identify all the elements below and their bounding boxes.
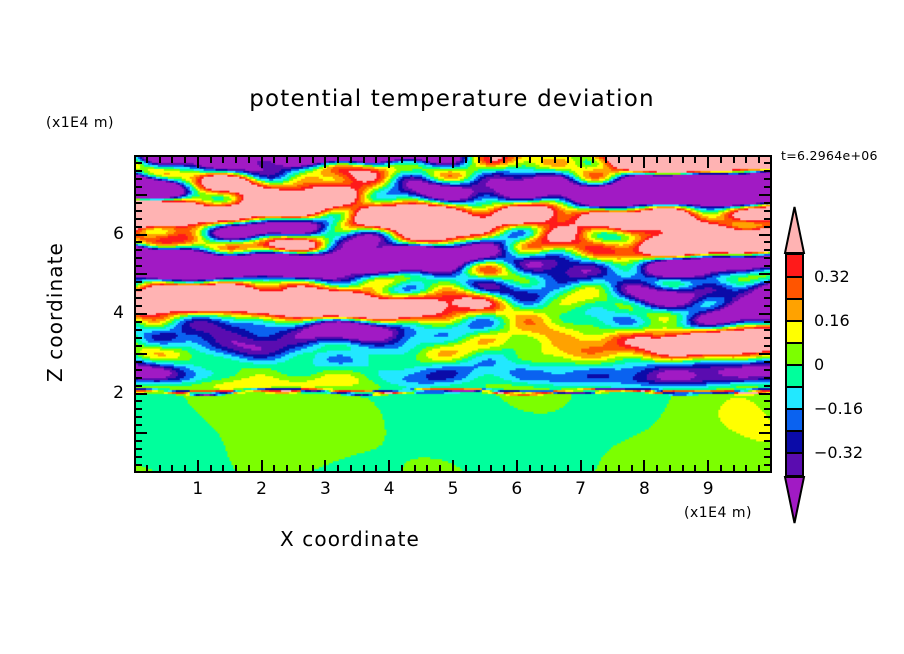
x-tick-label: 3 [305, 479, 345, 499]
y-tick-left [136, 400, 142, 402]
y-tick-left [136, 178, 142, 180]
x-tick-top [656, 157, 658, 163]
y-tick-right [764, 329, 770, 331]
colorbar-band [787, 387, 802, 409]
colorbar-band [787, 343, 802, 365]
y-tick-right [759, 194, 770, 196]
plot-area [134, 155, 772, 473]
y-tick-left [136, 432, 147, 434]
x-tick-top [720, 157, 722, 163]
y-tick-right [759, 432, 770, 434]
y-tick-left [136, 424, 142, 426]
x-tick-top [580, 157, 582, 168]
colorbar-band-divider [787, 298, 802, 300]
x-tick-top [516, 157, 518, 168]
y-tick-left [136, 337, 142, 339]
colorbar-under-arrow-icon [782, 475, 807, 525]
y-tick-label: 2 [94, 383, 124, 403]
x-tick-bottom [745, 465, 747, 471]
x-tick-top [401, 157, 403, 163]
x-tick-label: 6 [497, 479, 537, 499]
x-tick-top [375, 157, 377, 163]
x-tick-top [758, 157, 760, 163]
y-tick-left [136, 297, 142, 299]
y-tick-left [136, 281, 142, 283]
y-tick-right [764, 202, 770, 204]
x-tick-top [210, 157, 212, 163]
y-axis-units-label: (x1E4 m) [46, 115, 114, 131]
x-tick-bottom [694, 465, 696, 471]
x-tick-top [184, 157, 186, 163]
x-tick-bottom [273, 465, 275, 471]
y-tick-right [764, 305, 770, 307]
y-tick-right [764, 408, 770, 410]
y-tick-left [136, 218, 142, 220]
x-tick-bottom [184, 465, 186, 471]
x-tick-top [414, 157, 416, 163]
colorbar-band [787, 321, 802, 343]
x-tick-top [745, 157, 747, 163]
x-tick-top [490, 157, 492, 163]
x-tick-top [261, 157, 263, 168]
x-tick-top [631, 157, 633, 163]
y-tick-right [764, 170, 770, 172]
x-tick-bottom [286, 465, 288, 471]
y-tick-left [136, 186, 142, 188]
x-tick-bottom [159, 465, 161, 471]
y-tick-right [764, 241, 770, 243]
y-tick-left [136, 241, 142, 243]
y-tick-right [764, 345, 770, 347]
x-tick-bottom [146, 465, 148, 471]
x-tick-top [248, 157, 250, 163]
x-tick-bottom [439, 465, 441, 471]
y-tick-right [764, 297, 770, 299]
x-tick-bottom [235, 465, 237, 471]
colorbar-band [787, 431, 802, 453]
x-tick-top [426, 157, 428, 163]
y-tick-right [764, 218, 770, 220]
y-tick-right [764, 178, 770, 180]
y-tick-left [136, 416, 142, 418]
colorbar-tick-label: 0 [814, 355, 824, 374]
y-tick-right [764, 337, 770, 339]
colorbar-band-divider [787, 276, 802, 278]
y-tick-right [764, 424, 770, 426]
colorbar-band-divider [787, 342, 802, 344]
x-tick-bottom [733, 465, 735, 471]
colorbar-tick-label: −0.16 [814, 399, 863, 418]
y-tick-right [759, 234, 770, 236]
x-tick-bottom [426, 465, 428, 471]
y-tick-right [764, 289, 770, 291]
x-tick-bottom [222, 465, 224, 471]
y-tick-left [136, 202, 142, 204]
y-tick-left [136, 273, 147, 275]
y-tick-right [764, 448, 770, 450]
x-tick-top [171, 157, 173, 163]
colorbar-bands [785, 253, 804, 477]
x-axis-title: X coordinate [0, 527, 700, 551]
x-tick-bottom [631, 465, 633, 471]
x-tick-top [197, 157, 199, 168]
y-tick-right [764, 249, 770, 251]
x-tick-label: 1 [178, 479, 218, 499]
y-tick-right [759, 313, 770, 315]
y-tick-right [764, 162, 770, 164]
x-tick-top [337, 157, 339, 163]
y-tick-left [136, 393, 147, 395]
x-tick-top [529, 157, 531, 163]
colorbar-band [787, 365, 802, 387]
y-tick-right [764, 369, 770, 371]
x-tick-bottom [363, 465, 365, 471]
x-tick-bottom [580, 460, 582, 471]
y-tick-right [764, 377, 770, 379]
x-tick-top [707, 157, 709, 168]
x-tick-top [286, 157, 288, 163]
x-tick-top [159, 157, 161, 163]
y-tick-right [764, 400, 770, 402]
x-tick-top [554, 157, 556, 163]
y-tick-right [764, 281, 770, 283]
x-tick-top [682, 157, 684, 163]
y-axis-title: Z coordinate [43, 212, 67, 412]
x-tick-top [643, 157, 645, 168]
x-tick-bottom [337, 465, 339, 471]
time-stamp-annotation: t=6.2964e+06 [781, 148, 878, 163]
y-tick-left [136, 456, 142, 458]
y-tick-left [136, 329, 142, 331]
x-tick-bottom [388, 460, 390, 471]
x-tick-top [146, 157, 148, 163]
x-tick-bottom [503, 465, 505, 471]
x-tick-bottom [529, 465, 531, 471]
y-tick-right [759, 393, 770, 395]
y-tick-left [136, 448, 142, 450]
x-tick-top [350, 157, 352, 163]
y-tick-right [764, 321, 770, 323]
contour-field [136, 157, 770, 471]
x-tick-bottom [669, 465, 671, 471]
colorbar-band-divider [787, 452, 802, 454]
colorbar-band-divider [787, 320, 802, 322]
colorbar-band [787, 299, 802, 321]
x-tick-top [452, 157, 454, 168]
x-tick-top [567, 157, 569, 163]
y-tick-left [136, 361, 142, 363]
colorbar-band-divider [787, 364, 802, 366]
x-tick-bottom [452, 460, 454, 471]
x-tick-top [465, 157, 467, 163]
colorbar-band [787, 453, 802, 475]
x-tick-bottom [465, 465, 467, 471]
y-tick-left [136, 162, 142, 164]
x-tick-bottom [554, 465, 556, 471]
colorbar-band [787, 277, 802, 299]
x-tick-label: 4 [369, 479, 409, 499]
x-tick-top [733, 157, 735, 163]
colorbar-tick-label: 0.16 [814, 311, 850, 330]
x-tick-bottom [720, 465, 722, 471]
colorbar-band-divider [787, 408, 802, 410]
x-tick-top [363, 157, 365, 163]
x-tick-bottom [707, 460, 709, 471]
x-tick-bottom [643, 460, 645, 471]
y-tick-left [136, 226, 142, 228]
contour-plot-figure: potential temperature deviation (x1E4 m)… [0, 0, 904, 654]
x-tick-bottom [401, 465, 403, 471]
x-tick-top [694, 157, 696, 163]
x-tick-top [669, 157, 671, 163]
y-tick-left [136, 249, 142, 251]
x-tick-bottom [758, 465, 760, 471]
colorbar [782, 205, 806, 525]
colorbar-over-arrow-icon [782, 205, 807, 255]
x-tick-bottom [592, 465, 594, 471]
x-tick-top [503, 157, 505, 163]
x-axis-units-label: (x1E4 m) [684, 505, 752, 521]
y-tick-left [136, 464, 142, 466]
y-tick-right [764, 440, 770, 442]
x-tick-label: 8 [624, 479, 664, 499]
x-tick-top [592, 157, 594, 163]
y-tick-right [764, 385, 770, 387]
x-tick-label: 5 [433, 479, 473, 499]
x-tick-top [541, 157, 543, 163]
y-tick-left [136, 210, 142, 212]
y-tick-left [136, 369, 142, 371]
y-tick-right [764, 257, 770, 259]
x-tick-bottom [605, 465, 607, 471]
colorbar-tick-label: 0.32 [814, 267, 850, 286]
x-tick-bottom [210, 465, 212, 471]
y-tick-right [764, 361, 770, 363]
x-tick-top [605, 157, 607, 163]
x-tick-top [235, 157, 237, 163]
x-tick-bottom [261, 460, 263, 471]
x-tick-bottom [541, 465, 543, 471]
x-tick-bottom [171, 465, 173, 471]
x-tick-bottom [567, 465, 569, 471]
colorbar-band-divider [787, 430, 802, 432]
y-tick-left [136, 170, 142, 172]
x-tick-bottom [197, 460, 199, 471]
y-tick-left [136, 257, 142, 259]
y-tick-left [136, 377, 142, 379]
y-tick-left [136, 385, 142, 387]
y-tick-right [764, 210, 770, 212]
page-title: potential temperature deviation [0, 86, 904, 112]
x-tick-bottom [350, 465, 352, 471]
y-tick-right [764, 456, 770, 458]
y-tick-right [764, 265, 770, 267]
colorbar-band-divider [787, 386, 802, 388]
x-tick-bottom [375, 465, 377, 471]
y-tick-left [136, 321, 142, 323]
x-tick-bottom [299, 465, 301, 471]
y-tick-right [759, 273, 770, 275]
x-tick-bottom [490, 465, 492, 471]
y-tick-left [136, 345, 142, 347]
y-tick-left [136, 194, 147, 196]
x-tick-bottom [248, 465, 250, 471]
x-tick-bottom [618, 465, 620, 471]
x-tick-bottom [324, 460, 326, 471]
x-tick-top [388, 157, 390, 168]
y-tick-left [136, 313, 147, 315]
y-tick-left [136, 353, 147, 355]
x-tick-top [324, 157, 326, 168]
x-tick-bottom [414, 465, 416, 471]
x-tick-top [273, 157, 275, 163]
x-tick-bottom [516, 460, 518, 471]
y-tick-right [759, 353, 770, 355]
x-tick-top [222, 157, 224, 163]
x-tick-label: 9 [688, 479, 728, 499]
x-tick-bottom [478, 465, 480, 471]
y-tick-left [136, 305, 142, 307]
y-tick-left [136, 289, 142, 291]
y-tick-right [764, 464, 770, 466]
x-tick-top [618, 157, 620, 163]
y-tick-right [764, 186, 770, 188]
x-tick-label: 7 [561, 479, 601, 499]
y-tick-right [764, 416, 770, 418]
x-tick-bottom [656, 465, 658, 471]
y-tick-right [764, 226, 770, 228]
colorbar-band [787, 255, 802, 277]
x-tick-top [312, 157, 314, 163]
y-tick-left [136, 440, 142, 442]
y-tick-left [136, 234, 147, 236]
colorbar-band [787, 409, 802, 431]
x-tick-top [478, 157, 480, 163]
y-tick-label: 6 [94, 224, 124, 244]
x-tick-bottom [312, 465, 314, 471]
colorbar-tick-label: −0.32 [814, 443, 863, 462]
x-tick-label: 2 [242, 479, 282, 499]
x-tick-top [439, 157, 441, 163]
x-tick-top [299, 157, 301, 163]
y-tick-left [136, 265, 142, 267]
y-tick-left [136, 408, 142, 410]
y-tick-label: 4 [94, 303, 124, 323]
x-tick-bottom [682, 465, 684, 471]
